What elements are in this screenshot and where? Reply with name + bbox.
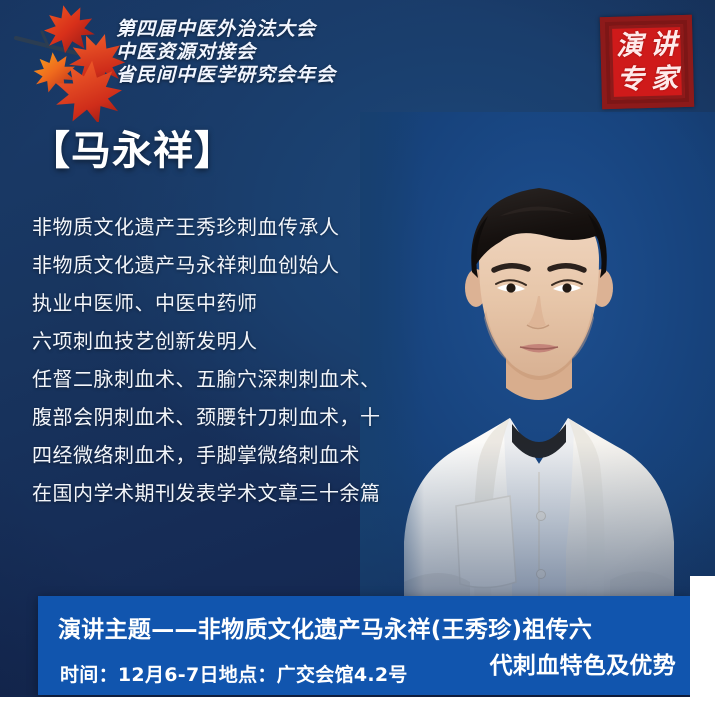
credential-line: 六项刺血技艺创新发明人 — [32, 322, 412, 360]
conference-speaker-poster: 第四届中医外治法大会 中医资源对接会 省民间中医学研究会年会 演 讲 专 家 【… — [0, 0, 715, 715]
seal-char-2: 讲 — [650, 31, 678, 59]
conference-title-line-1: 第四届中医外治法大会 — [116, 18, 416, 41]
seal-char-1: 演 — [616, 32, 644, 60]
speaker-name: 【马永祥】 — [30, 128, 235, 174]
credential-line: 腹部会阴刺血术、颈腰针刀刺血术，十 — [32, 398, 412, 436]
conference-title-line-2: 中医资源对接会 — [116, 41, 416, 64]
credential-line: 任督二脉刺血术、五腧穴深刺刺血术、 — [32, 360, 412, 398]
banner-right-margin — [690, 576, 715, 715]
credential-line: 四经微络刺血术，手脚掌微络刺血术 — [32, 436, 412, 474]
credential-line: 非物质文化遗产王秀珍刺血传承人 — [32, 208, 412, 246]
credential-line: 执业中医师、中医中药师 — [32, 284, 412, 322]
conference-title: 第四届中医外治法大会 中医资源对接会 省民间中医学研究会年会 — [116, 18, 416, 87]
seal-char-3: 专 — [617, 66, 645, 94]
speaker-expert-seal: 演 讲 专 家 — [600, 15, 694, 109]
seal-char-4: 家 — [651, 65, 679, 93]
credential-line: 在国内学术期刊发表学术文章三十余篇 — [32, 474, 412, 512]
speaker-credentials-list: 非物质文化遗产王秀珍刺血传承人 非物质文化遗产马永祥刺血创始人 执业中医师、中医… — [32, 208, 412, 512]
credential-line: 非物质文化遗产马永祥刺血创始人 — [32, 246, 412, 284]
banner-schedule-text: 时间：12月6-7日地点：广交会馆4.2号 — [60, 663, 408, 687]
conference-title-line-3: 省民间中医学研究会年会 — [116, 64, 416, 87]
banner-topic-line-1: 演讲主题——非物质文化遗产马永祥(王秀珍)祖传六 — [58, 612, 676, 648]
topic-banner: 演讲主题——非物质文化遗产马永祥(王秀珍)祖传六 代刺血特色及优势 时间：12月… — [38, 596, 690, 695]
bottom-white-strip — [0, 697, 715, 715]
seal-inner-panel: 演 讲 专 家 — [609, 24, 685, 100]
